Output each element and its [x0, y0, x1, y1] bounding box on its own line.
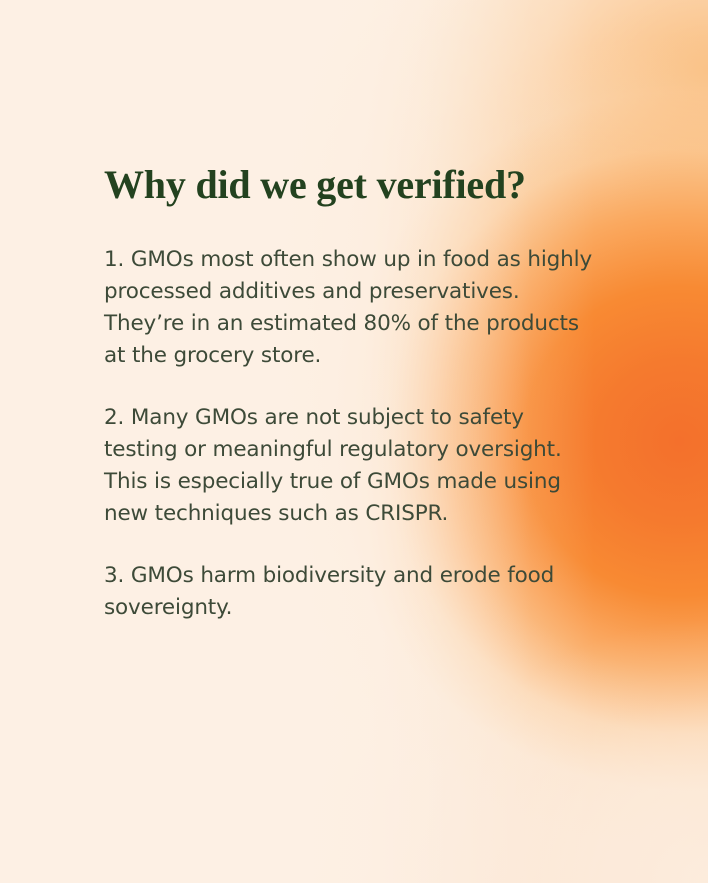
body-paragraph-3: 3. GMOs harm biodiversity and erode food… [104, 560, 596, 624]
content-column: Why did we get verified? 1. GMOs most of… [104, 0, 604, 883]
body-paragraph-1: 1. GMOs most often show up in food as hi… [104, 244, 596, 372]
page-title: Why did we get verified? [104, 162, 526, 208]
body-copy: 1. GMOs most often show up in food as hi… [104, 244, 596, 624]
slide-canvas: Why did we get verified? 1. GMOs most of… [0, 0, 708, 883]
body-paragraph-2: 2. Many GMOs are not subject to safety t… [104, 402, 596, 530]
